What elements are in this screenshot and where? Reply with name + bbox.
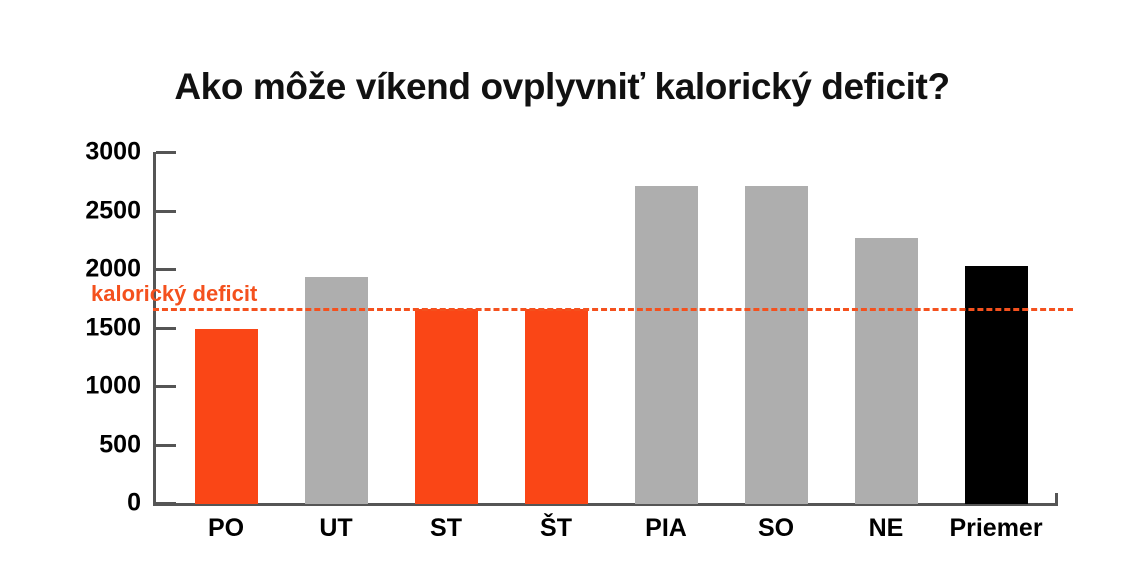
y-axis-tick	[156, 210, 176, 213]
x-axis-end-cap	[1055, 493, 1058, 506]
x-axis-label-pia: PIA	[645, 514, 687, 543]
y-axis-tick	[156, 444, 176, 447]
threshold-label: kalorický deficit	[91, 281, 257, 307]
bar-št[interactable]	[525, 309, 588, 504]
y-axis-tick	[156, 327, 176, 330]
chart-figure: Ako môže víkend ovplyvniť kalorický defi…	[0, 0, 1124, 588]
y-axis-tick-label: 500	[33, 430, 141, 459]
bar-priemer[interactable]	[965, 266, 1028, 504]
y-axis-tick-label: 2500	[33, 196, 141, 225]
y-axis-tick-label: 0	[33, 489, 141, 518]
plot-area: 050010001500200025003000 POUTSTŠTPIASONE…	[153, 148, 1058, 507]
bar-so[interactable]	[745, 186, 808, 504]
y-axis-tick	[156, 151, 176, 154]
x-axis-label-po: PO	[208, 514, 244, 543]
y-axis-tick-label: 2000	[33, 255, 141, 284]
y-axis-tick-label: 1500	[33, 313, 141, 342]
x-axis-line	[153, 503, 1058, 506]
bar-po[interactable]	[195, 329, 258, 505]
y-axis-tick	[156, 502, 176, 505]
x-axis-label-ut: UT	[319, 514, 352, 543]
y-axis-tick	[156, 268, 176, 271]
x-axis-label-so: SO	[758, 514, 794, 543]
x-axis-label-ne: NE	[869, 514, 904, 543]
bar-st[interactable]	[415, 309, 478, 504]
x-axis-label-st: ST	[430, 514, 462, 543]
bar-ne[interactable]	[855, 238, 918, 504]
y-axis-tick	[156, 385, 176, 388]
y-axis-tick-label: 3000	[33, 138, 141, 167]
x-axis-label-priemer: Priemer	[949, 514, 1042, 543]
bar-pia[interactable]	[635, 186, 698, 504]
x-axis-label-št: ŠT	[540, 514, 572, 543]
threshold-line	[153, 308, 1073, 311]
y-axis-tick-label: 1000	[33, 372, 141, 401]
page-title: Ako môže víkend ovplyvniť kalorický defi…	[0, 66, 1124, 108]
bar-ut[interactable]	[305, 277, 368, 504]
